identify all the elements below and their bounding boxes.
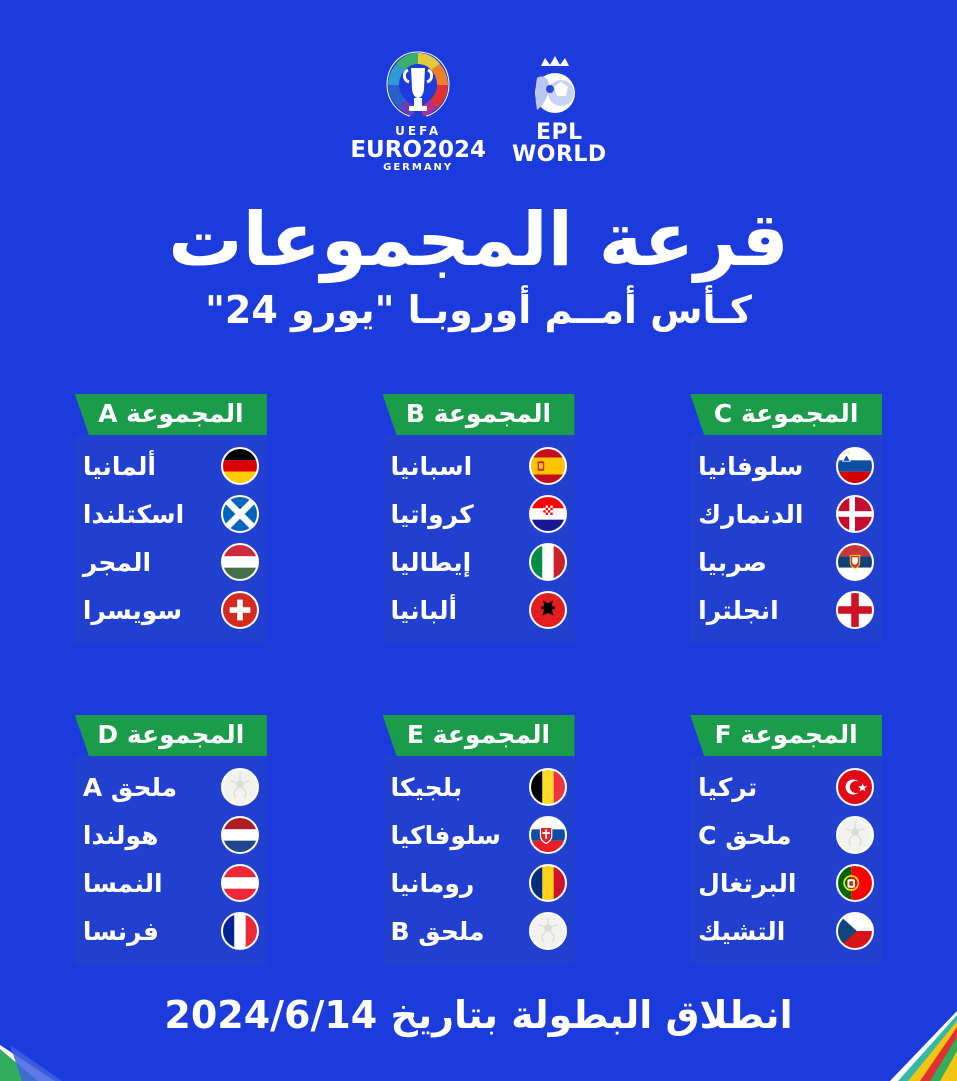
playoff-ball-flag-icon: [529, 912, 567, 950]
albania-flag-icon: [529, 591, 567, 629]
team-row: ألبانيا: [391, 589, 567, 631]
portugal-flag-icon: [836, 864, 874, 902]
team-name: الدنمارك: [698, 500, 828, 529]
team-row: اسكتلندا: [83, 493, 259, 535]
team-name: سلوفاكيا: [391, 821, 521, 850]
team-row: فرنسا: [83, 910, 259, 952]
team-row: هولندا: [83, 814, 259, 856]
team-row: سويسرا: [83, 589, 259, 631]
hungary-flag-icon: [221, 543, 259, 581]
euro-2024-label: EURO2024: [350, 138, 486, 162]
austria-flag-icon: [221, 864, 259, 902]
switzerland-flag-icon: [221, 591, 259, 629]
group-header-a: المجموعة A: [75, 394, 267, 435]
group-card-d: المجموعة Dملحق Aهولنداالنمسافرنسا: [75, 715, 267, 964]
group-header-b: المجموعة B: [383, 394, 575, 435]
team-name: سلوفانيا: [698, 452, 828, 481]
corner-decoration-right: [812, 1011, 957, 1081]
team-name: كرواتيا: [391, 500, 521, 529]
team-row: ملحق C: [698, 814, 874, 856]
slovenia-flag-icon: [836, 447, 874, 485]
team-row: ملحق B: [391, 910, 567, 952]
team-row: المجر: [83, 541, 259, 583]
group-header-d: المجموعة D: [75, 715, 267, 756]
slovakia-flag-icon: [529, 816, 567, 854]
group-card-a: المجموعة Aألمانيااسكتلنداالمجرسويسرا: [75, 394, 267, 643]
logo-bar: EPL WORLD: [0, 0, 957, 140]
group-team-list: سلوفانياالدنماركصربياانجلترا: [690, 435, 882, 643]
team-name: فرنسا: [83, 917, 213, 946]
team-name: التشيك: [698, 917, 828, 946]
team-name: اسبانيا: [391, 452, 521, 481]
team-row: تركيا: [698, 766, 874, 808]
team-name: رومانيا: [391, 869, 521, 898]
team-name: سويسرا: [83, 596, 213, 625]
team-row: ألمانيا: [83, 445, 259, 487]
playoff-ball-flag-icon: [221, 768, 259, 806]
uefa-euro-2024-logo: UEFA EURO2024 GERMANY: [350, 48, 486, 173]
team-row: سلوفاكيا: [391, 814, 567, 856]
italy-flag-icon: [529, 543, 567, 581]
team-row: انجلترا: [698, 589, 874, 631]
scotland-flag-icon: [221, 495, 259, 533]
uefa-euro-2024-trophy-logo-icon: [379, 48, 457, 122]
netherlands-flag-icon: [221, 816, 259, 854]
team-row: إيطاليا: [391, 541, 567, 583]
germany-flag-icon: [221, 447, 259, 485]
group-team-list: اسبانياكرواتياإيطالياألبانيا: [383, 435, 575, 643]
playoff-ball-flag-icon: [836, 816, 874, 854]
team-row: التشيك: [698, 910, 874, 952]
serbia-flag-icon: [836, 543, 874, 581]
group-card-f: المجموعة Fتركياملحق Cالبرتغالالتشيك: [690, 715, 882, 964]
corner-decoration-left: [0, 1011, 130, 1081]
team-name: بلجيكا: [391, 773, 521, 802]
group-card-e: المجموعة Eبلجيكاسلوفاكيارومانياملحق B: [383, 715, 575, 964]
team-name: النمسا: [83, 869, 213, 898]
croatia-flag-icon: [529, 495, 567, 533]
team-row: النمسا: [83, 862, 259, 904]
group-team-list: ألمانيااسكتلنداالمجرسويسرا: [75, 435, 267, 643]
team-name: ألمانيا: [83, 452, 213, 481]
team-name: انجلترا: [698, 596, 828, 625]
epl-world-logo: EPL WORLD: [512, 48, 607, 166]
spain-flag-icon: [529, 447, 567, 485]
team-name: ألبانيا: [391, 596, 521, 625]
team-row: الدنمارك: [698, 493, 874, 535]
team-name: اسكتلندا: [83, 500, 213, 529]
epl-logo-line2: WORLD: [512, 142, 607, 167]
page-subtitle: كـأس أمــم أوروبـا "يورو 24": [0, 288, 957, 332]
group-header-e: المجموعة E: [383, 715, 575, 756]
epl-world-crown-ball-logo-icon: [523, 48, 595, 120]
team-name: ملحق C: [698, 821, 828, 850]
group-team-list: ملحق Aهولنداالنمسافرنسا: [75, 756, 267, 964]
team-name: المجر: [83, 548, 213, 577]
group-header-f: المجموعة F: [690, 715, 882, 756]
germany-label: GERMANY: [383, 162, 453, 173]
team-name: تركيا: [698, 773, 828, 802]
turkey-flag-icon: [836, 768, 874, 806]
team-name: ملحق A: [83, 773, 213, 802]
team-name: صربيا: [698, 548, 828, 577]
france-flag-icon: [221, 912, 259, 950]
group-header-c: المجموعة C: [690, 394, 882, 435]
team-row: اسبانيا: [391, 445, 567, 487]
team-row: بلجيكا: [391, 766, 567, 808]
england-flag-icon: [836, 591, 874, 629]
group-team-list: تركياملحق Cالبرتغالالتشيك: [690, 756, 882, 964]
team-row: سلوفانيا: [698, 445, 874, 487]
team-row: رومانيا: [391, 862, 567, 904]
team-row: كرواتيا: [391, 493, 567, 535]
groups-grid: المجموعة Cسلوفانياالدنماركصربياانجلتراال…: [0, 394, 957, 964]
team-row: صربيا: [698, 541, 874, 583]
team-row: ملحق A: [83, 766, 259, 808]
denmark-flag-icon: [836, 495, 874, 533]
team-name: البرتغال: [698, 869, 828, 898]
team-name: ملحق B: [391, 917, 521, 946]
uefa-label: UEFA: [395, 124, 441, 138]
romania-flag-icon: [529, 864, 567, 902]
group-card-b: المجموعة Bاسبانياكرواتياإيطالياألبانيا: [383, 394, 575, 643]
team-name: هولندا: [83, 821, 213, 850]
belgium-flag-icon: [529, 768, 567, 806]
czechia-flag-icon: [836, 912, 874, 950]
team-row: البرتغال: [698, 862, 874, 904]
group-team-list: بلجيكاسلوفاكيارومانياملحق B: [383, 756, 575, 964]
team-name: إيطاليا: [391, 548, 521, 577]
group-card-c: المجموعة Cسلوفانياالدنماركصربياانجلترا: [690, 394, 882, 643]
page-title: قرعة المجموعات: [0, 198, 957, 282]
